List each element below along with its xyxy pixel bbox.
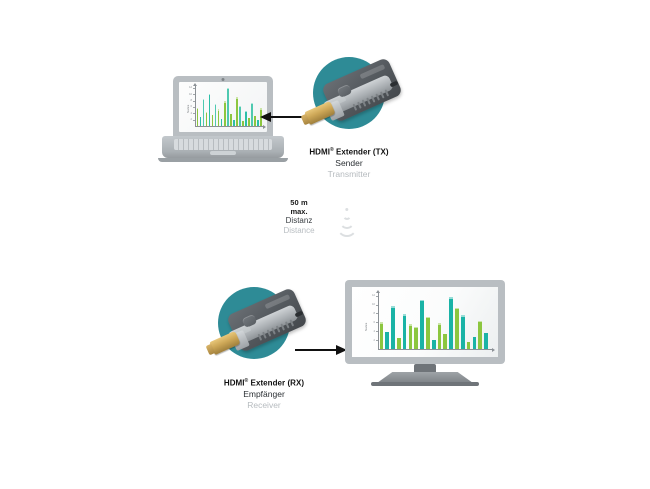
chart-bar [391, 306, 395, 349]
chart-bar-cap [455, 308, 459, 309]
chart-bar [426, 317, 430, 349]
chart-bar-cap [409, 324, 413, 325]
television-monitor: 24681012Sales [345, 280, 505, 388]
chart-bar [203, 99, 205, 126]
arrow-right-icon [295, 345, 347, 355]
tv-stand-base [371, 382, 479, 386]
chart-bar-cap [239, 106, 241, 107]
chart-bar-cap [224, 101, 226, 102]
chart-y-axis-arrow [193, 83, 197, 86]
chart-bar-cap [236, 97, 238, 98]
chart-bar [380, 322, 384, 349]
chart-x-axis-arrow [492, 348, 495, 352]
receiver-label-de: Empfänger [184, 389, 344, 400]
receiver-title: HDMI® Extender (RX) [184, 376, 344, 389]
chart-bar [218, 109, 220, 126]
chart-bar-cap [380, 322, 384, 323]
chart-bar [467, 342, 471, 349]
chart-bar [215, 104, 217, 126]
transmitter-caption: HDMI® Extender (TX) Sender Transmitter [269, 145, 429, 180]
transmitter-dongle [300, 62, 412, 136]
wireless-signal-icon [334, 207, 360, 233]
hdmi-plug-connector [304, 101, 335, 125]
chart-bar [233, 120, 235, 126]
chart-bar [239, 106, 241, 126]
chart-bar [245, 111, 247, 126]
chart-x-axis [195, 126, 263, 127]
chart-bar [455, 308, 459, 349]
chart-bar [251, 103, 253, 126]
chart-y-tickmark [376, 331, 378, 332]
tv-bar-chart: 24681012Sales [352, 287, 498, 357]
chart-bar [254, 116, 256, 126]
chart-bar [206, 112, 208, 126]
chart-bar [478, 321, 482, 349]
chart-bar [224, 101, 226, 126]
chart-bar [473, 337, 477, 349]
chart-bar [409, 324, 413, 349]
laptop-webcam-icon [222, 78, 225, 81]
chart-x-axis [378, 349, 492, 350]
transmitter-label-de: Sender [269, 158, 429, 169]
chart-y-tick-label: 8 [368, 312, 375, 315]
chart-y-tickmark [376, 340, 378, 341]
chart-bar [449, 297, 453, 349]
chart-y-tick-label: 12 [185, 86, 192, 89]
chart-bar-cap [449, 297, 453, 298]
chart-bar [197, 108, 199, 126]
chart-bar [200, 117, 202, 126]
distance-value: 50 m [268, 198, 330, 207]
chart-bar-cap [209, 94, 211, 95]
transmitter-title: HDMI® Extender (TX) [269, 145, 429, 158]
chart-y-tick-label: 6 [368, 321, 375, 324]
chart-bar-cap [260, 108, 262, 109]
chart-bar-cap [215, 104, 217, 105]
chart-bar [414, 327, 418, 349]
chart-y-tick-label: 12 [368, 294, 375, 297]
tv-screen: 24681012Sales [352, 287, 498, 357]
diagram-canvas: 24681012Sales HDMI® Extender (TX) Sender [0, 0, 650, 489]
chart-bar [484, 333, 488, 349]
distance-block: 50 m max. Distanz Distance [268, 198, 330, 236]
chart-bar-cap [197, 108, 199, 109]
chart-y-tickmark [193, 120, 195, 121]
laptop-screen: 24681012Sales [179, 82, 267, 132]
distance-qualifier: max. [268, 207, 330, 216]
chart-bar [443, 334, 447, 349]
laptop-trackpad[interactable] [210, 151, 236, 155]
chart-y-tickmark [193, 101, 195, 102]
chart-bar-cap [420, 300, 424, 301]
chart-bar-cap [218, 109, 220, 110]
chart-y-tick-label: 2 [185, 118, 192, 121]
chart-y-axis-label: Sales [364, 323, 368, 332]
chart-bar [236, 97, 238, 126]
chart-y-tickmark [193, 113, 195, 114]
chart-bar-cap [206, 112, 208, 113]
laptop-lid: 24681012Sales [173, 76, 273, 138]
chart-bar [432, 340, 436, 349]
chart-y-tickmark [376, 313, 378, 314]
chart-bar-cap [478, 321, 482, 322]
hdmi-plug-connector [209, 331, 240, 355]
chart-x-axis-arrow [263, 125, 266, 129]
chart-bar [227, 88, 229, 126]
chart-bar [242, 121, 244, 126]
chart-y-tickmark [376, 305, 378, 306]
chart-y-tickmark [376, 296, 378, 297]
chart-bar [403, 314, 407, 349]
chart-bar-cap [251, 103, 253, 104]
chart-bar [209, 94, 211, 126]
chart-bar [230, 114, 232, 126]
chart-bar [420, 300, 424, 349]
chart-bar-cap [426, 317, 430, 318]
chart-bar [461, 315, 465, 349]
laptop-bar-chart: 24681012Sales [179, 82, 267, 132]
chart-bar [257, 120, 259, 126]
distance-label-de: Distanz [268, 216, 330, 226]
chart-bar [248, 118, 250, 126]
receiver-caption: HDMI® Extender (RX) Empfänger Receiver [184, 376, 344, 411]
chart-bar-cap [403, 314, 407, 315]
chart-bar [385, 332, 389, 349]
tv-frame: 24681012Sales [345, 280, 505, 364]
chart-y-tickmark [193, 94, 195, 95]
chart-bar [438, 323, 442, 349]
chart-y-tick-label: 8 [185, 99, 192, 102]
chart-bar-cap [203, 99, 205, 100]
chart-y-axis-arrow [376, 290, 380, 293]
transmitter-label-en: Transmitter [269, 169, 429, 180]
laptop-base [162, 136, 284, 158]
laptop-keyboard[interactable] [174, 139, 272, 150]
chart-bar-cap [391, 306, 395, 307]
chart-y-tickmark [193, 107, 195, 108]
arrow-shaft [295, 349, 337, 351]
chart-y-tick-label: 2 [368, 339, 375, 342]
chart-bar-cap [245, 111, 247, 112]
receiver-label-en: Receiver [184, 400, 344, 411]
chart-y-tick-label: 10 [185, 93, 192, 96]
chart-bar-cap [438, 323, 442, 324]
chart-bar-cap [414, 327, 418, 328]
chart-y-tick-label: 4 [368, 330, 375, 333]
distance-label-en: Distance [268, 226, 330, 236]
chart-bar [212, 115, 214, 126]
chart-bar [397, 338, 401, 349]
chart-y-axis-label: Sales [186, 105, 190, 114]
chart-bar [221, 119, 223, 126]
chart-bar-cap [461, 315, 465, 316]
chart-y-tickmark [376, 322, 378, 323]
chart-bar-cap [227, 88, 229, 89]
chart-y-tickmark [193, 88, 195, 89]
chart-y-tick-label: 10 [368, 303, 375, 306]
